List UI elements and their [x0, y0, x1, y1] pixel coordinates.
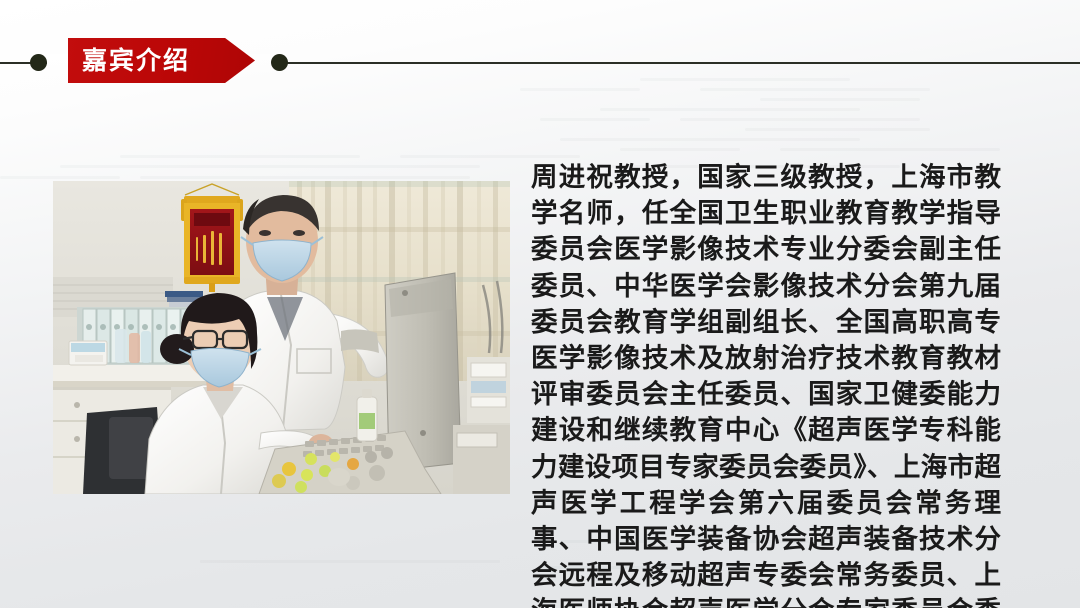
guest-bio-text: 周进祝教授，国家三级教授，上海市教学名师，任全国卫生职业教育教学指导委员会医学影… — [531, 160, 1001, 608]
guest-photo-image — [53, 181, 510, 494]
section-title-banner: 嘉宾介绍 — [68, 38, 255, 83]
slide-canvas: 嘉宾介绍 — [0, 0, 1080, 608]
decor-dot-right — [271, 54, 288, 71]
section-title-label: 嘉宾介绍 — [82, 48, 190, 73]
guest-photo — [53, 181, 510, 494]
decor-dot-left — [30, 54, 47, 71]
